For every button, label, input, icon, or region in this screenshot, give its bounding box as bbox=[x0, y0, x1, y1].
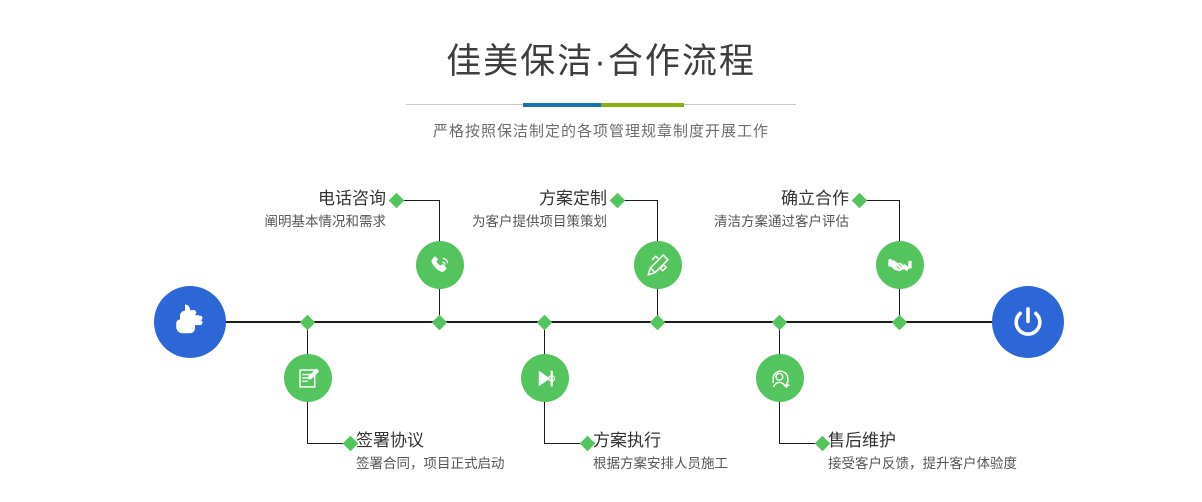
step-title: 方案定制 bbox=[412, 188, 607, 210]
step-desc: 阐明基本情况和需求 bbox=[196, 212, 386, 232]
step-title: 电话咨询 bbox=[196, 188, 386, 210]
step-node-sign-agreement[interactable] bbox=[284, 354, 332, 402]
step-title: 确立合作 bbox=[644, 188, 849, 210]
step-label-bottom-1: 签署协议 签署合同，项目正式启动 bbox=[356, 430, 576, 474]
step-label-bottom-2: 方案执行 根据方案安排人员施工 bbox=[593, 430, 813, 474]
step-desc: 签署合同，项目正式启动 bbox=[356, 454, 576, 474]
divider-blue-segment bbox=[523, 103, 601, 107]
play-to-end-icon bbox=[532, 365, 559, 392]
divider-green-segment bbox=[601, 103, 684, 107]
step-title: 售后维护 bbox=[828, 430, 1078, 452]
step-node-after-sales[interactable] bbox=[756, 354, 804, 402]
headset-support-add-icon bbox=[767, 365, 794, 392]
handshake-icon bbox=[886, 251, 914, 279]
timeline-end-node[interactable] bbox=[992, 286, 1064, 358]
step-label-top-3: 确立合作 清洁方案通过客户评估 bbox=[644, 188, 849, 232]
phone-call-icon bbox=[427, 252, 454, 279]
step-label-bottom-3: 售后维护 接受客户反馈，提升客户体验度 bbox=[828, 430, 1078, 474]
axis-marker-5 bbox=[772, 315, 788, 331]
pencil-ruler-icon bbox=[644, 251, 672, 279]
label-marker-top-3 bbox=[852, 193, 868, 209]
step-desc: 根据方案安排人员施工 bbox=[593, 454, 813, 474]
step-title: 签署协议 bbox=[356, 430, 576, 452]
axis-marker-2 bbox=[432, 315, 448, 331]
step-node-plan-execution[interactable] bbox=[521, 354, 569, 402]
label-marker-top-2 bbox=[610, 193, 626, 209]
timeline-axis bbox=[155, 321, 1045, 323]
timeline-start-node[interactable] bbox=[154, 286, 226, 358]
step-desc: 接受客户反馈，提升客户体验度 bbox=[828, 454, 1078, 474]
step-desc: 为客户提供项目策策划 bbox=[412, 212, 607, 232]
axis-marker-4 bbox=[650, 315, 666, 331]
power-icon bbox=[1007, 301, 1049, 343]
page-subtitle: 严格按照保洁制定的各项管理规章制度开展工作 bbox=[0, 120, 1202, 141]
flow-diagram-page: 佳美保洁·合作流程 严格按照保洁制定的各项管理规章制度开展工作 bbox=[0, 0, 1202, 502]
step-title: 方案执行 bbox=[593, 430, 813, 452]
step-node-establish-cooperation[interactable] bbox=[876, 241, 924, 289]
label-marker-top-1 bbox=[389, 193, 405, 209]
page-header: 佳美保洁·合作流程 严格按照保洁制定的各项管理规章制度开展工作 bbox=[0, 0, 1202, 141]
step-label-top-2: 方案定制 为客户提供项目策策划 bbox=[412, 188, 607, 232]
page-title: 佳美保洁·合作流程 bbox=[0, 44, 1202, 79]
axis-marker-3 bbox=[537, 315, 553, 331]
title-divider bbox=[406, 103, 796, 107]
step-label-top-1: 电话咨询 阐明基本情况和需求 bbox=[196, 188, 386, 232]
axis-marker-6 bbox=[892, 315, 908, 331]
step-node-phone-consultation[interactable] bbox=[416, 241, 464, 289]
axis-marker-1 bbox=[300, 315, 316, 331]
step-node-plan-customization[interactable] bbox=[634, 241, 682, 289]
step-desc: 清洁方案通过客户评估 bbox=[644, 212, 849, 232]
document-sign-icon bbox=[295, 365, 322, 392]
pointing-hand-icon bbox=[170, 302, 210, 342]
